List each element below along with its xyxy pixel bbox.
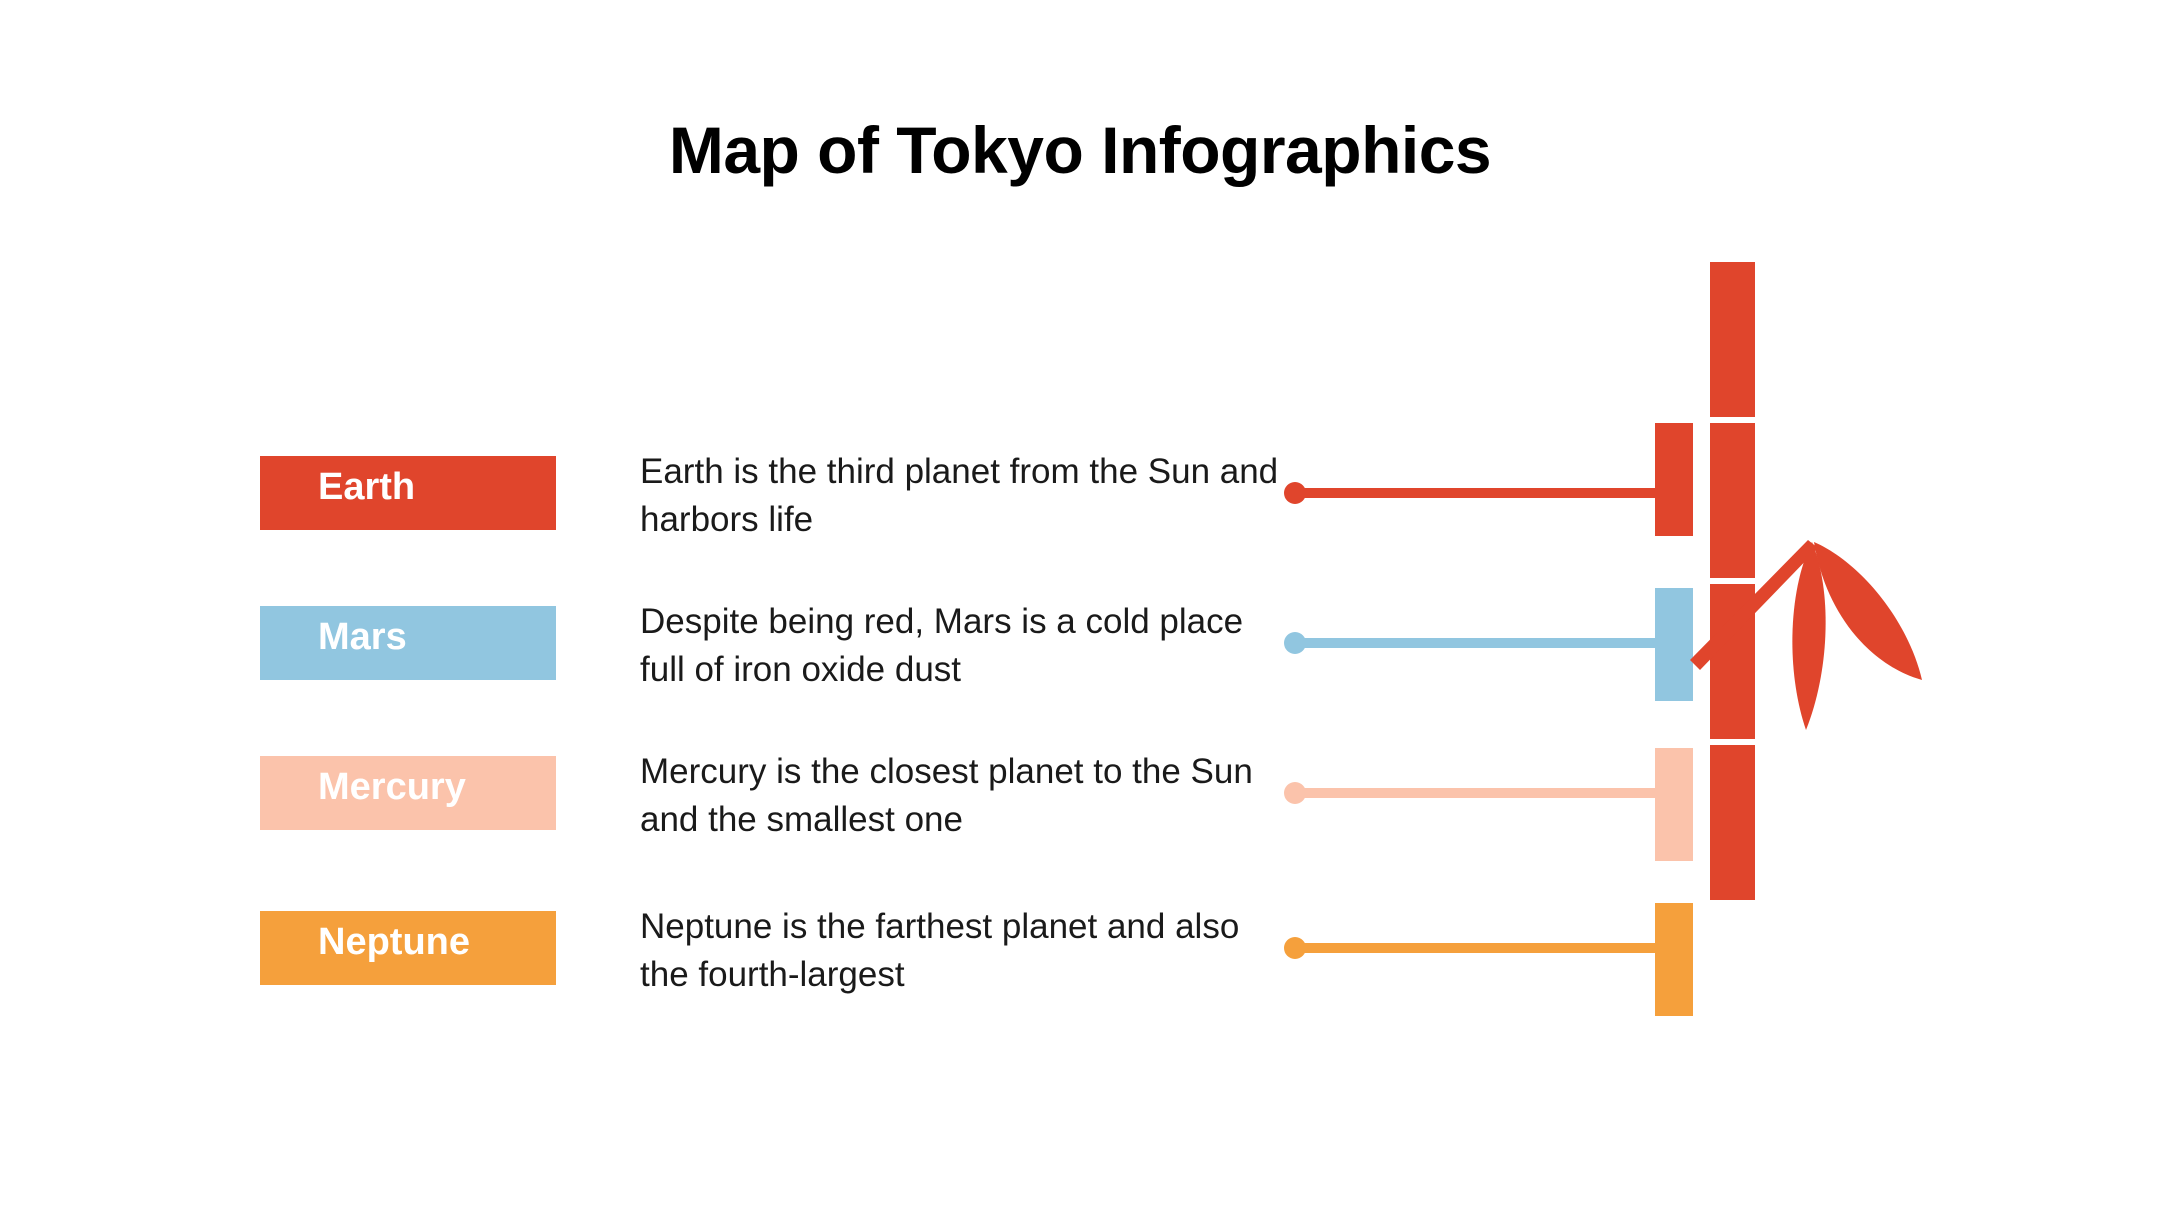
connector-line (1295, 788, 1665, 798)
planet-description: Mercury is the closest planet to the Sun… (640, 748, 1280, 845)
page-title: Map of Tokyo Infographics (0, 112, 2160, 188)
planet-label-box[interactable]: Neptune (260, 911, 556, 985)
infographic-slide: Map of Tokyo Infographics Earth Earth is… (0, 0, 2160, 1215)
planet-label-box[interactable]: Mercury (260, 756, 556, 830)
planet-label-text: Mercury (318, 762, 498, 813)
list-item: Mercury Mercury is the closest planet to… (0, 740, 2160, 890)
planet-label-box[interactable]: Earth (260, 456, 556, 530)
connector-line (1295, 638, 1665, 648)
list-item: Neptune Neptune is the farthest planet a… (0, 895, 2160, 1045)
planet-label-text: Earth (318, 462, 498, 513)
list-item: Earth Earth is the third planet from the… (0, 440, 2160, 590)
planet-label-text: Neptune (318, 917, 498, 968)
connector-line (1295, 488, 1665, 498)
planet-description: Earth is the third planet from the Sun a… (640, 448, 1280, 545)
planet-label-text: Mars (318, 612, 498, 663)
planet-label-box[interactable]: Mars (260, 606, 556, 680)
planet-description: Despite being red, Mars is a cold place … (640, 598, 1280, 695)
connector-line (1295, 943, 1665, 953)
planet-description: Neptune is the farthest planet and also … (640, 903, 1280, 1000)
list-item: Mars Despite being red, Mars is a cold p… (0, 590, 2160, 740)
bamboo-right-segment (1710, 262, 1755, 417)
